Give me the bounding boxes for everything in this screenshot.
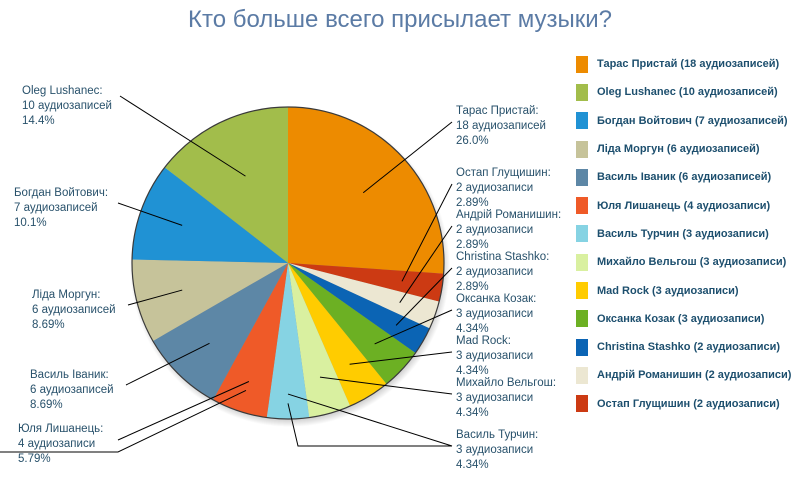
callout-andriy-romanyshyn: Андрій Романишин:2 аудиозаписи2.89% [456,208,561,253]
callout-line3: 4.34% [456,406,556,421]
callout-line2: 3 аудиозаписи [456,349,533,364]
legend-item[interactable]: Тарас Пристай (18 аудиозаписей) [576,50,800,78]
callout-line3: 10.1% [14,216,108,231]
legend-color-swatch [576,395,588,412]
callout-line1: Ліда Моргун: [32,288,116,303]
callout-line2: 18 аудиозаписей [456,119,546,134]
legend-item[interactable]: Юля Лишанець (4 аудиозаписи) [576,191,800,219]
callout-bogdan-voytovych: Богдан Войтович:7 аудиозаписей10.1% [14,186,108,231]
callout-line1: Василь Іваник: [30,368,114,383]
callout-lida-morgun: Ліда Моргун:6 аудиозаписей8.69% [32,288,116,333]
legend-color-swatch [576,169,588,186]
legend-item-label: Тарас Пристай (18 аудиозаписей) [597,58,779,70]
legend-item-label: Ліда Моргун (6 аудиозаписей) [597,143,760,155]
legend-item[interactable]: Christina Stashko (2 аудиозаписи) [576,333,800,361]
legend-item[interactable]: Богдан Войтович (7 аудиозаписей) [576,107,800,135]
legend-color-swatch [576,225,588,242]
chart-legend: Тарас Пристай (18 аудиозаписей)Oleg Lush… [576,50,800,418]
pie-plot-area: Oleg Lushanec:10 аудиозаписей14.4%Богдан… [0,0,570,500]
pie-slices-group [132,107,444,419]
callout-vasyl-ivanyk: Василь Іваник:6 аудиозаписей8.69% [30,368,114,413]
callout-line3: 8.69% [30,398,114,413]
callout-line2: 6 аудиозаписей [32,303,116,318]
callout-line3: 5.79% [18,452,103,467]
callout-line1: Богдан Войтович: [14,186,108,201]
callout-ostap-hlushchyshyn: Остап Глущишин:2 аудиозаписи2.89% [456,166,551,211]
pie-chart-figure: Кто больше всего присылает музыки? Oleg … [0,0,800,500]
callout-line1: Oleg Lushanec: [22,84,112,99]
legend-color-swatch [576,56,588,73]
legend-item-label: Михайло Вельгош (3 аудиозаписи) [597,256,786,268]
callout-oleg-lushanec: Oleg Lushanec:10 аудиозаписей14.4% [22,84,112,129]
callout-line1: Тарас Пристай: [456,104,546,119]
legend-color-swatch [576,339,588,356]
legend-item-label: Василь Іваник (6 аудиозаписей) [597,171,771,183]
callout-oksanka-kozak: Оксанка Козак:3 аудиозаписи4.34% [456,292,536,337]
callout-yulia-lyshanets: Юля Лишанець:4 аудиозаписи5.79% [18,422,103,467]
callout-taras-prystay: Тарас Пристай:18 аудиозаписей26.0% [456,104,546,149]
legend-item-label: Богдан Войтович (7 аудиозаписей) [597,115,788,127]
legend-item-label: Юля Лишанець (4 аудиозаписи) [597,200,770,212]
callout-line1: Василь Турчин: [456,428,538,443]
legend-item[interactable]: Ліда Моргун (6 аудиозаписей) [576,135,800,163]
callout-line2: 7 аудиозаписей [14,201,108,216]
legend-item-label: Василь Турчин (3 аудиозаписи) [597,228,769,240]
callout-line1: Михайло Вельгош: [456,376,556,391]
legend-item[interactable]: Михайло Вельгош (3 аудиозаписи) [576,248,800,276]
legend-color-swatch [576,84,588,101]
legend-color-swatch [576,367,588,384]
legend-color-swatch [576,310,588,327]
callout-line3: 26.0% [456,134,546,149]
legend-item-label: Mad Rock (3 аудиозаписи) [597,285,739,297]
legend-item-label: Остап Глущишин (2 аудиозаписи) [597,398,780,410]
legend-item[interactable]: Оксанка Козак (3 аудиозаписи) [576,305,800,333]
callout-line3: 14.4% [22,114,112,129]
callout-mad-rock: Mad Rock:3 аудиозаписи4.34% [456,334,533,379]
callout-line1: Christina Stashko: [456,250,549,265]
legend-item[interactable]: Василь Іваник (6 аудиозаписей) [576,163,800,191]
legend-color-swatch [576,197,588,214]
callout-line2: 2 аудиозаписи [456,223,561,238]
callout-line2: 10 аудиозаписей [22,99,112,114]
legend-item[interactable]: Андрій Романишин (2 аудиозаписи) [576,361,800,389]
callout-line3: 8.69% [32,318,116,333]
callout-line2: 4 аудиозаписи [18,437,103,452]
legend-color-swatch [576,282,588,299]
callout-line2: 2 аудиозаписи [456,265,549,280]
callout-vasyl-turchyn: Василь Турчин:3 аудиозаписи4.34% [456,428,538,473]
legend-item-label: Oleg Lushanec (10 аудиозаписей) [597,86,778,98]
legend-item[interactable]: Остап Глущишин (2 аудиозаписи) [576,390,800,418]
legend-item-label: Андрій Романишин (2 аудиозаписи) [597,369,791,381]
callout-line2: 3 аудиозаписи [456,307,536,322]
callout-line2: 3 аудиозаписи [456,443,538,458]
callout-mykhaylo-velhosh: Михайло Вельгош:3 аудиозаписи4.34% [456,376,556,421]
callout-line2: 3 аудиозаписи [456,391,556,406]
callout-line1: Юля Лишанець: [18,422,103,437]
legend-item[interactable]: Oleg Lushanec (10 аудиозаписей) [576,78,800,106]
callout-line2: 6 аудиозаписей [30,383,114,398]
legend-color-swatch [576,254,588,271]
legend-item-label: Christina Stashko (2 аудиозаписи) [597,341,780,353]
callout-christina-stashko: Christina Stashko:2 аудиозаписи2.89% [456,250,549,295]
legend-color-swatch [576,112,588,129]
callout-line1: Остап Глущишин: [456,166,551,181]
legend-item[interactable]: Василь Турчин (3 аудиозаписи) [576,220,800,248]
legend-color-swatch [576,141,588,158]
callout-line3: 4.34% [456,458,538,473]
legend-item-label: Оксанка Козак (3 аудиозаписи) [597,313,764,325]
callout-line1: Оксанка Козак: [456,292,536,307]
callout-line1: Mad Rock: [456,334,533,349]
legend-item[interactable]: Mad Rock (3 аудиозаписи) [576,276,800,304]
callout-line1: Андрій Романишин: [456,208,561,223]
callout-line2: 2 аудиозаписи [456,181,551,196]
